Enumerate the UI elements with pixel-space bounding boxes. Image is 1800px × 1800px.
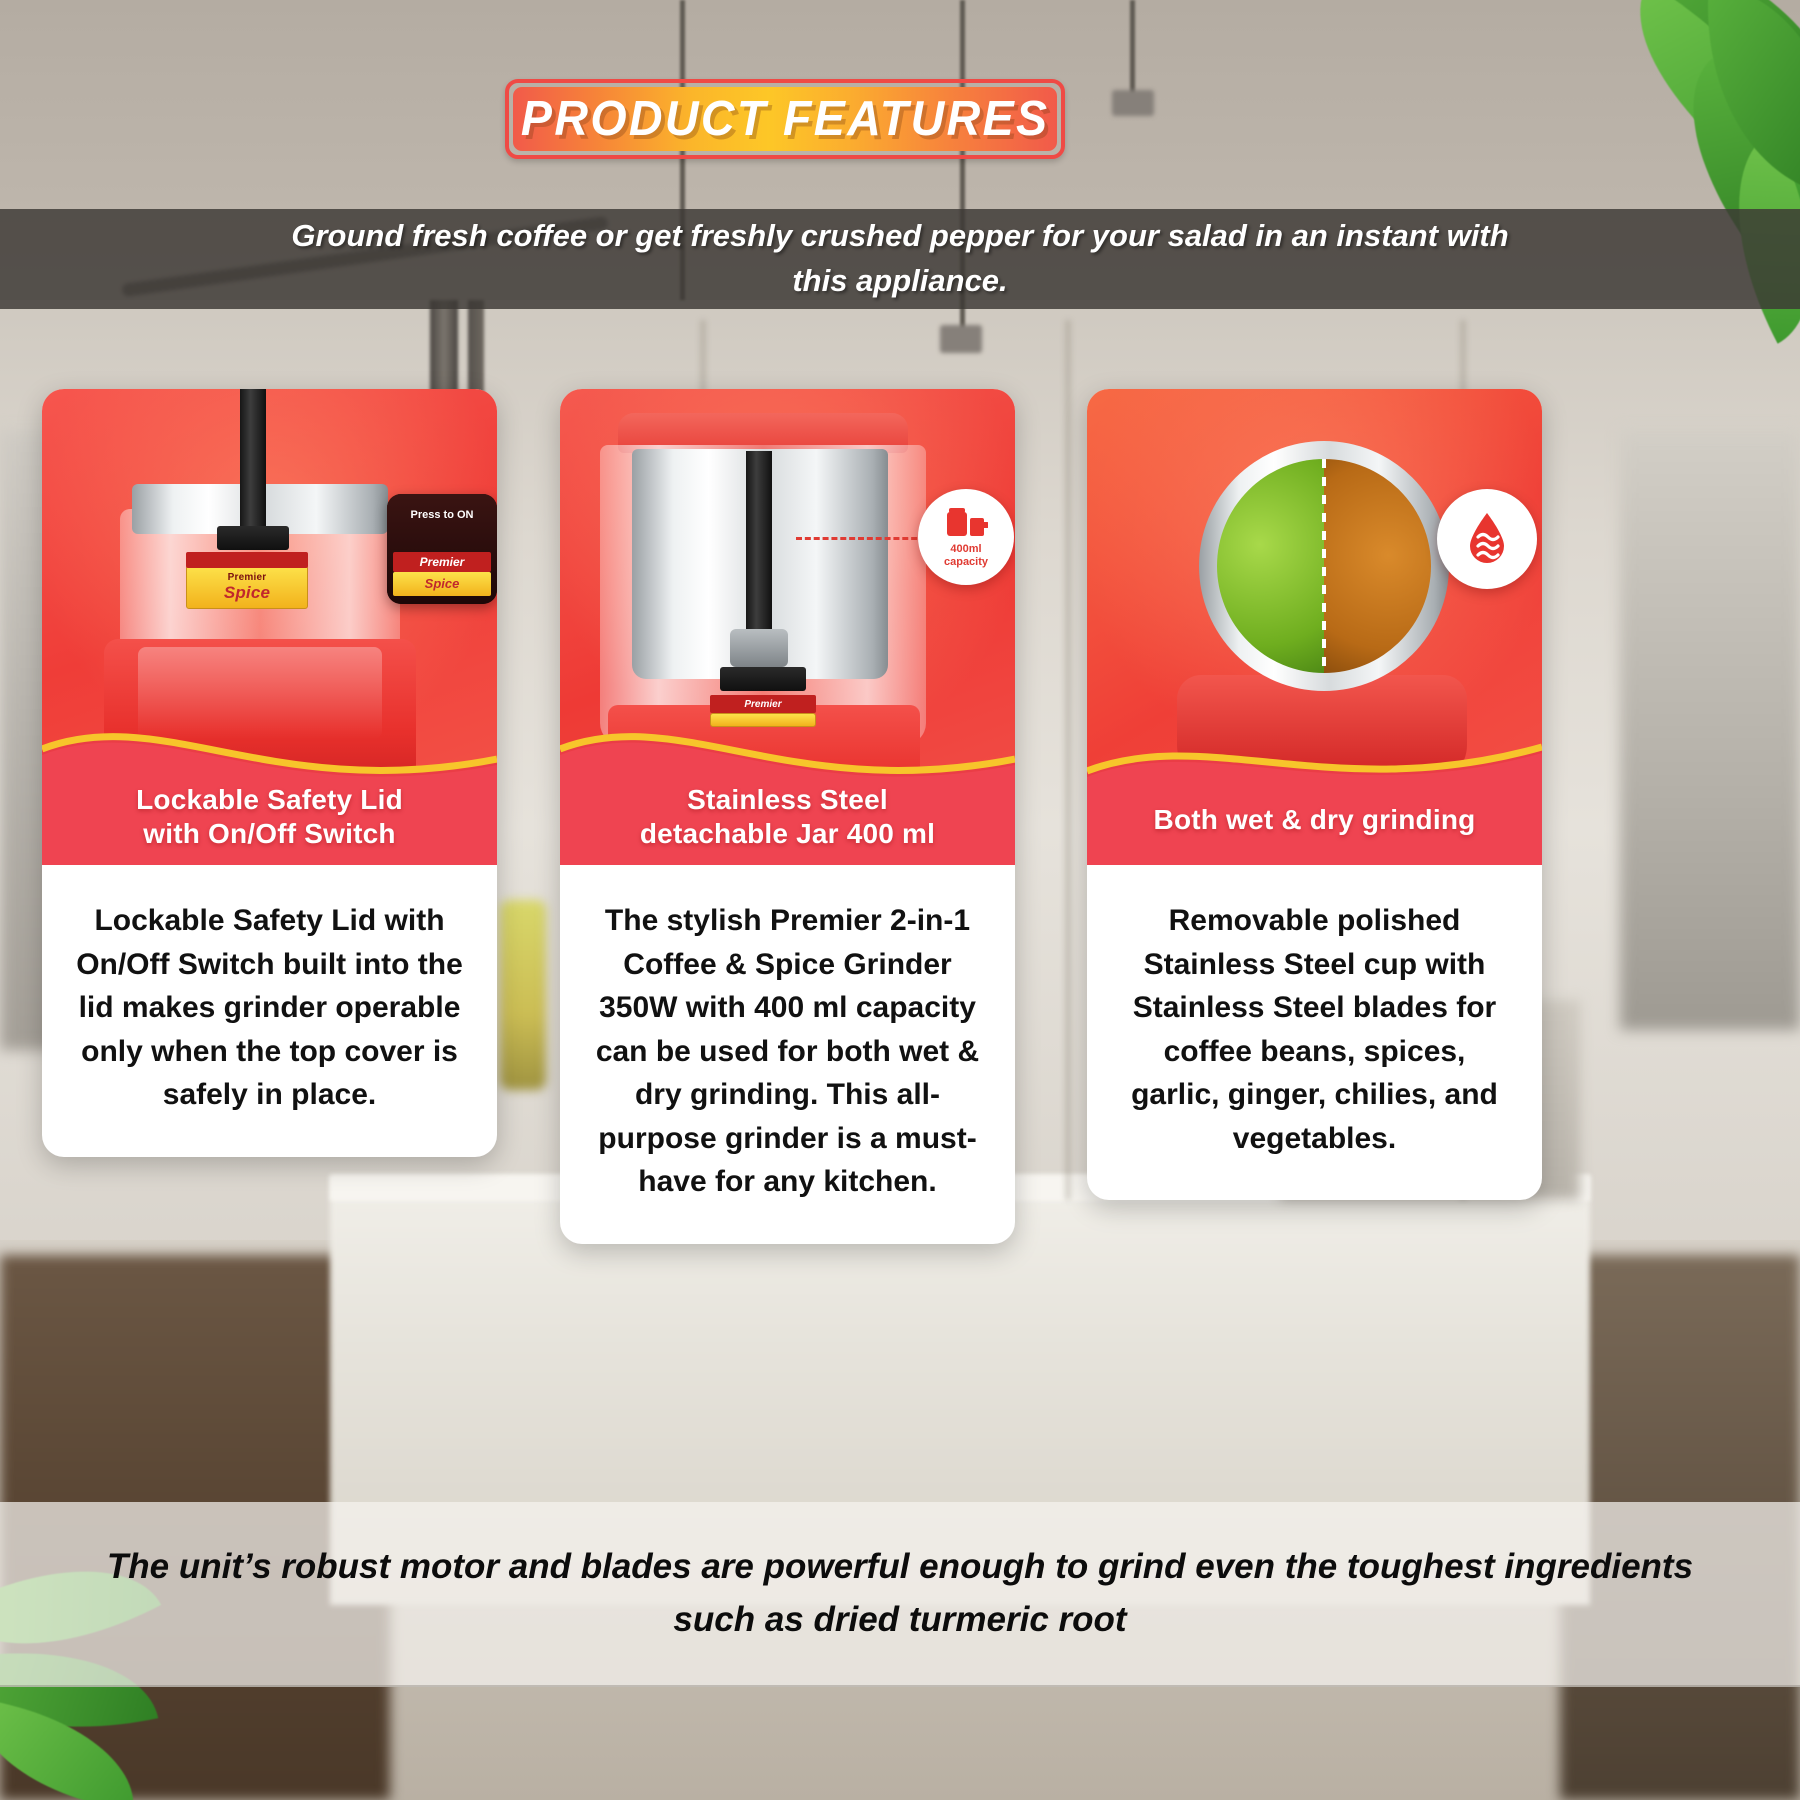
footer-band: The unit’s robust motor and blades are p…: [0, 1502, 1800, 1687]
dry-powder-brown: [1324, 459, 1431, 673]
pendant-lamp-2: [940, 325, 982, 353]
blade-hub: [730, 629, 788, 667]
capacity-badge-text: 400ml capacity: [944, 543, 988, 567]
press-to-on-text: Press to ON: [397, 502, 487, 528]
feature-card-stainless-steel-jar[interactable]: Premier 400ml capacity: [560, 389, 1015, 1244]
subtitle-band: Ground fresh coffee or get freshly crush…: [0, 209, 1800, 309]
card-2-body-text: The stylish Premier 2-in-1 Coffee & Spic…: [560, 865, 1015, 1244]
sticker-subbrand: Spice: [224, 583, 270, 603]
pendant-lamp-1: [1112, 90, 1154, 116]
callout-brand: Premier: [393, 552, 491, 572]
pendant-rod-1: [1130, 0, 1135, 95]
wet-paste-green: [1217, 459, 1324, 673]
cabinet-seam-2: [1065, 320, 1071, 1200]
feature-card-wet-dry-grinding[interactable]: Both wet & dry grinding Removable polish…: [1087, 389, 1542, 1200]
wet-dry-badge: [1437, 489, 1537, 589]
caption-line-2: detachable Jar 400 ml: [560, 817, 1015, 851]
card-1-caption: Lockable Safety Lid with On/Off Switch: [42, 783, 497, 865]
card-2-caption: Stainless Steel detachable Jar 400 ml: [560, 783, 1015, 865]
card-1-product-photo: Premier Spice Press to ON Premier Spice …: [42, 389, 497, 865]
on-off-switch[interactable]: [217, 526, 289, 550]
wet-dry-divider: [1322, 459, 1326, 673]
capacity-line-1: 400ml: [944, 543, 988, 555]
capacity-line-2: capacity: [944, 556, 988, 568]
window-right: [1620, 430, 1800, 1030]
water-drop-heat-waves-icon: [1463, 511, 1511, 567]
card-1-body-text: Lockable Safety Lid with On/Off Switch b…: [42, 865, 497, 1157]
card-3-body-text: Removable polished Stainless Steel cup w…: [1087, 865, 1542, 1200]
grinder-center-shaft: [240, 389, 266, 539]
caption-line-1: Stainless Steel: [560, 783, 1015, 817]
subtitle-text: Ground fresh coffee or get freshly crush…: [275, 214, 1525, 304]
feature-card-lockable-safety-lid[interactable]: Premier Spice Press to ON Premier Spice …: [42, 389, 497, 1157]
cup-contents: [1217, 459, 1431, 673]
caption-line-1: Both wet & dry grinding: [1087, 803, 1542, 837]
brand-label-sticker: Premier Spice: [186, 565, 308, 609]
capacity-leader-line: [796, 537, 926, 540]
card-3-product-photo: Both wet & dry grinding: [1087, 389, 1542, 865]
press-to-on-callout: Press to ON Premier Spice: [387, 494, 497, 604]
capacity-badge: 400ml capacity: [918, 489, 1014, 585]
caption-line-2: with On/Off Switch: [42, 817, 497, 851]
jar-cup-icon: [944, 506, 988, 540]
counter-bottle: [500, 900, 546, 1090]
page-title: PRODUCT FEATURES: [521, 91, 1050, 147]
sticker-brand: Premier: [228, 572, 267, 583]
callout-subbrand: Spice: [393, 572, 491, 596]
premier-red-strip: [186, 552, 308, 568]
caption-line-1: Lockable Safety Lid: [42, 783, 497, 817]
grinder-center-shaft: [746, 451, 772, 636]
card-2-product-photo: Premier 400ml capacity: [560, 389, 1015, 865]
footer-text: The unit’s robust motor and blades are p…: [90, 1541, 1710, 1646]
card-3-caption: Both wet & dry grinding: [1087, 803, 1542, 853]
product-features-title-banner: PRODUCT FEATURES: [505, 79, 1065, 159]
title-banner-fill: PRODUCT FEATURES: [513, 87, 1057, 151]
